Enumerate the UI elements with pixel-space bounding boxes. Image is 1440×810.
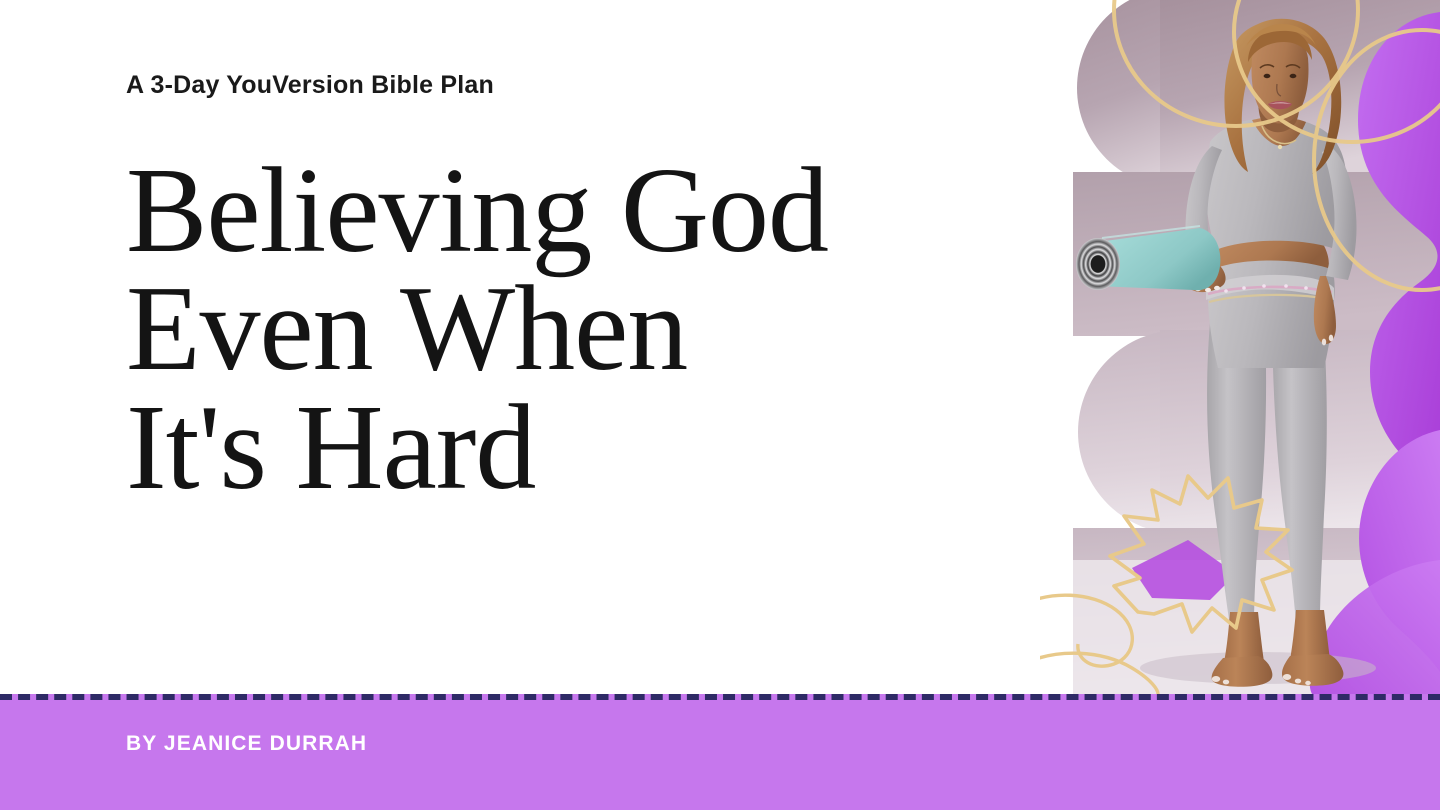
yoga-mat-roll-end (1076, 238, 1120, 290)
text-column: A 3-Day YouVersion Bible Plan Believing … (126, 70, 1046, 507)
necklace-pendant (1278, 145, 1282, 149)
author-byline: BY JEANICE DURRAH (126, 732, 367, 756)
eyebrow-label: A 3-Day YouVersion Bible Plan (126, 70, 1046, 100)
page-title: Believing God Even When It's Hard (126, 152, 1046, 507)
slide-canvas: A 3-Day YouVersion Bible Plan Believing … (0, 0, 1440, 810)
artwork-panel (1040, 0, 1440, 694)
footer-band: BY JEANICE DURRAH (0, 694, 1440, 810)
artwork-illustration (1040, 0, 1440, 694)
